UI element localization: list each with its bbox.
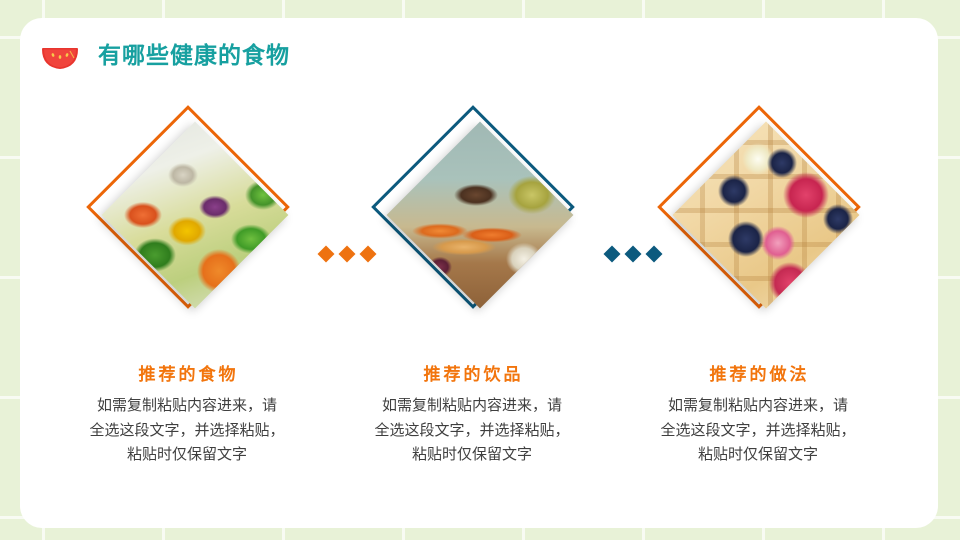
separator-diamond-dot-icon: [646, 246, 663, 263]
column-body-1: 如需复制粘贴内容进来，请 全选这段文字，并选择粘贴， 粘贴时仅保留文字: [45, 394, 329, 467]
column-body-2: 如需复制粘贴内容进来，请 全选这段文字，并选择粘贴， 粘贴时仅保留文字: [330, 394, 614, 467]
slide-header: 有哪些健康的食物: [34, 32, 290, 78]
photo-image-2: [387, 122, 574, 309]
photo-image-3: [673, 122, 860, 309]
column-heading-1: 推荐的食物: [45, 365, 329, 385]
bottom-white-strip: [0, 540, 960, 548]
column-heading-3: 推荐的做法: [616, 365, 900, 385]
separator-2: [606, 248, 660, 260]
separator-diamond-dot-icon: [318, 246, 335, 263]
diamond-card-2[interactable]: [330, 113, 614, 361]
slide: 有哪些健康的食物 推荐的食物 如需复制粘贴内容进来，请 全选这段文字，并选择粘贴…: [0, 0, 960, 548]
separator-diamond-dot-icon: [604, 246, 621, 263]
diamond-card-3[interactable]: [616, 113, 900, 361]
separator-diamond-dot-icon: [360, 246, 377, 263]
separator-diamond-dot-icon: [339, 246, 356, 263]
root-vegetables-photo: [387, 122, 574, 309]
photo-image-1: [102, 122, 289, 309]
columns-container: 推荐的食物 如需复制粘贴内容进来，请 全选这段文字，并选择粘贴， 粘贴时仅保留文…: [20, 113, 938, 503]
waffle-berries-photo: [673, 122, 860, 309]
separator-1: [320, 248, 374, 260]
column-recommended-food[interactable]: 推荐的食物 如需复制粘贴内容进来，请 全选这段文字，并选择粘贴， 粘贴时仅保留文…: [45, 113, 329, 467]
diamond-card-1[interactable]: [45, 113, 329, 361]
separator-diamond-dot-icon: [625, 246, 642, 263]
column-recommended-methods[interactable]: 推荐的做法 如需复制粘贴内容进来，请 全选这段文字，并选择粘贴， 粘贴时仅保留文…: [616, 113, 900, 467]
column-heading-2: 推荐的饮品: [330, 365, 614, 385]
content-card: 有哪些健康的食物 推荐的食物 如需复制粘贴内容进来，请 全选这段文字，并选择粘贴…: [20, 18, 938, 528]
watermelon-slice-icon: [34, 29, 86, 81]
page-title: 有哪些健康的食物: [98, 44, 290, 67]
vegetable-skewers-photo: [102, 122, 289, 309]
column-body-3: 如需复制粘贴内容进来，请 全选这段文字，并选择粘贴， 粘贴时仅保留文字: [616, 394, 900, 467]
column-recommended-drinks[interactable]: 推荐的饮品 如需复制粘贴内容进来，请 全选这段文字，并选择粘贴， 粘贴时仅保留文…: [330, 113, 614, 467]
